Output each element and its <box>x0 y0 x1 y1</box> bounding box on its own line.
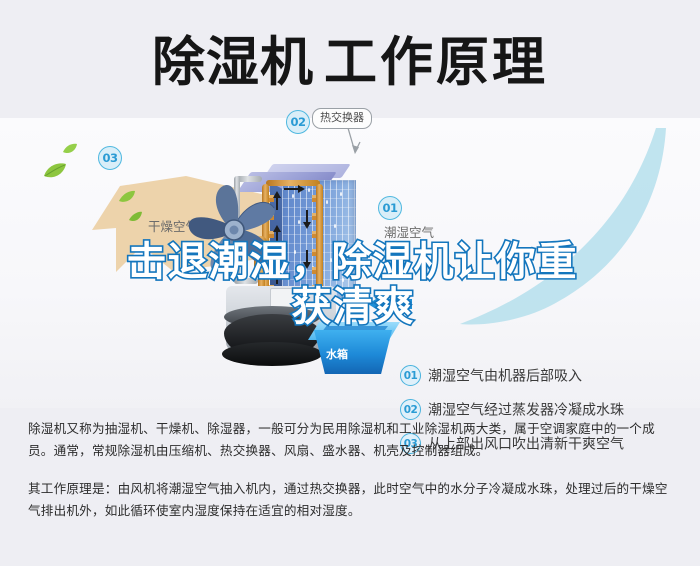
suction-pipe-bottom <box>234 278 258 284</box>
paragraph-1: 除湿机又称为抽湿机、干燥机、除湿器，一般可分为民用除湿机和工业除湿机两大类，属于… <box>28 418 678 462</box>
caption-text-02: 潮湿空气经过蒸发器冷凝成水珠 <box>428 402 624 418</box>
paragraph-2: 其工作原理是：由风机将潮湿空气抽入机内，通过热交换器，此时空气中的水分子冷凝成水… <box>28 478 678 522</box>
page-title: 除湿机工作原理 <box>0 30 700 96</box>
flow-arrow-right <box>298 185 305 193</box>
machine-base <box>222 342 322 366</box>
infographic-page: 除湿机工作原理 03 02 <box>0 0 700 566</box>
moist-air-stream-swoosh <box>430 126 680 321</box>
flow-arrow-down <box>303 262 311 269</box>
flow-arrow-stem <box>284 188 298 190</box>
paragraph-2-text: 由风机将潮湿空气抽入机内，通过热交换器，此时空气中的水分子冷凝成水珠，处理过后的… <box>28 482 668 518</box>
badge-03: 03 <box>98 146 122 170</box>
leaf-icon <box>118 190 136 209</box>
caption-line-01: 01潮湿空气由机器后部吸入 <box>400 365 582 386</box>
body-copy: 除湿机又称为抽湿机、干燥机、除湿器，一般可分为民用除湿机和工业除湿机两大类，属于… <box>28 418 678 531</box>
leaf-icon <box>42 162 68 185</box>
flow-arrow-stem <box>306 210 308 222</box>
leaf-icon <box>62 142 78 160</box>
water-tank <box>308 322 400 374</box>
illustration-stage: 03 02 01 热交换器 干燥空气 潮湿空气 <box>0 118 700 408</box>
paragraph-2-lead: 其工作原理是： <box>28 482 118 496</box>
page-title-segment-2: 工作原理 <box>324 32 548 93</box>
flow-arrow-down <box>303 222 311 229</box>
water-tank-label: 水箱 <box>326 346 348 362</box>
page-title-segment-1: 除湿机 <box>152 32 314 93</box>
caption-line-02: 02潮湿空气经过蒸发器冷凝成水珠 <box>400 399 624 420</box>
caption-text-01: 潮湿空气由机器后部吸入 <box>428 368 582 384</box>
dehumidifier-machine <box>196 136 436 386</box>
caption-badge-02: 02 <box>400 399 421 420</box>
fan-icon <box>186 184 272 268</box>
flow-arrow-stem <box>306 250 308 262</box>
badge-02: 02 <box>286 110 310 134</box>
leaf-icon <box>128 210 143 228</box>
caption-badge-01: 01 <box>400 365 421 386</box>
heat-exchanger-callout: 热交换器 <box>312 108 372 129</box>
